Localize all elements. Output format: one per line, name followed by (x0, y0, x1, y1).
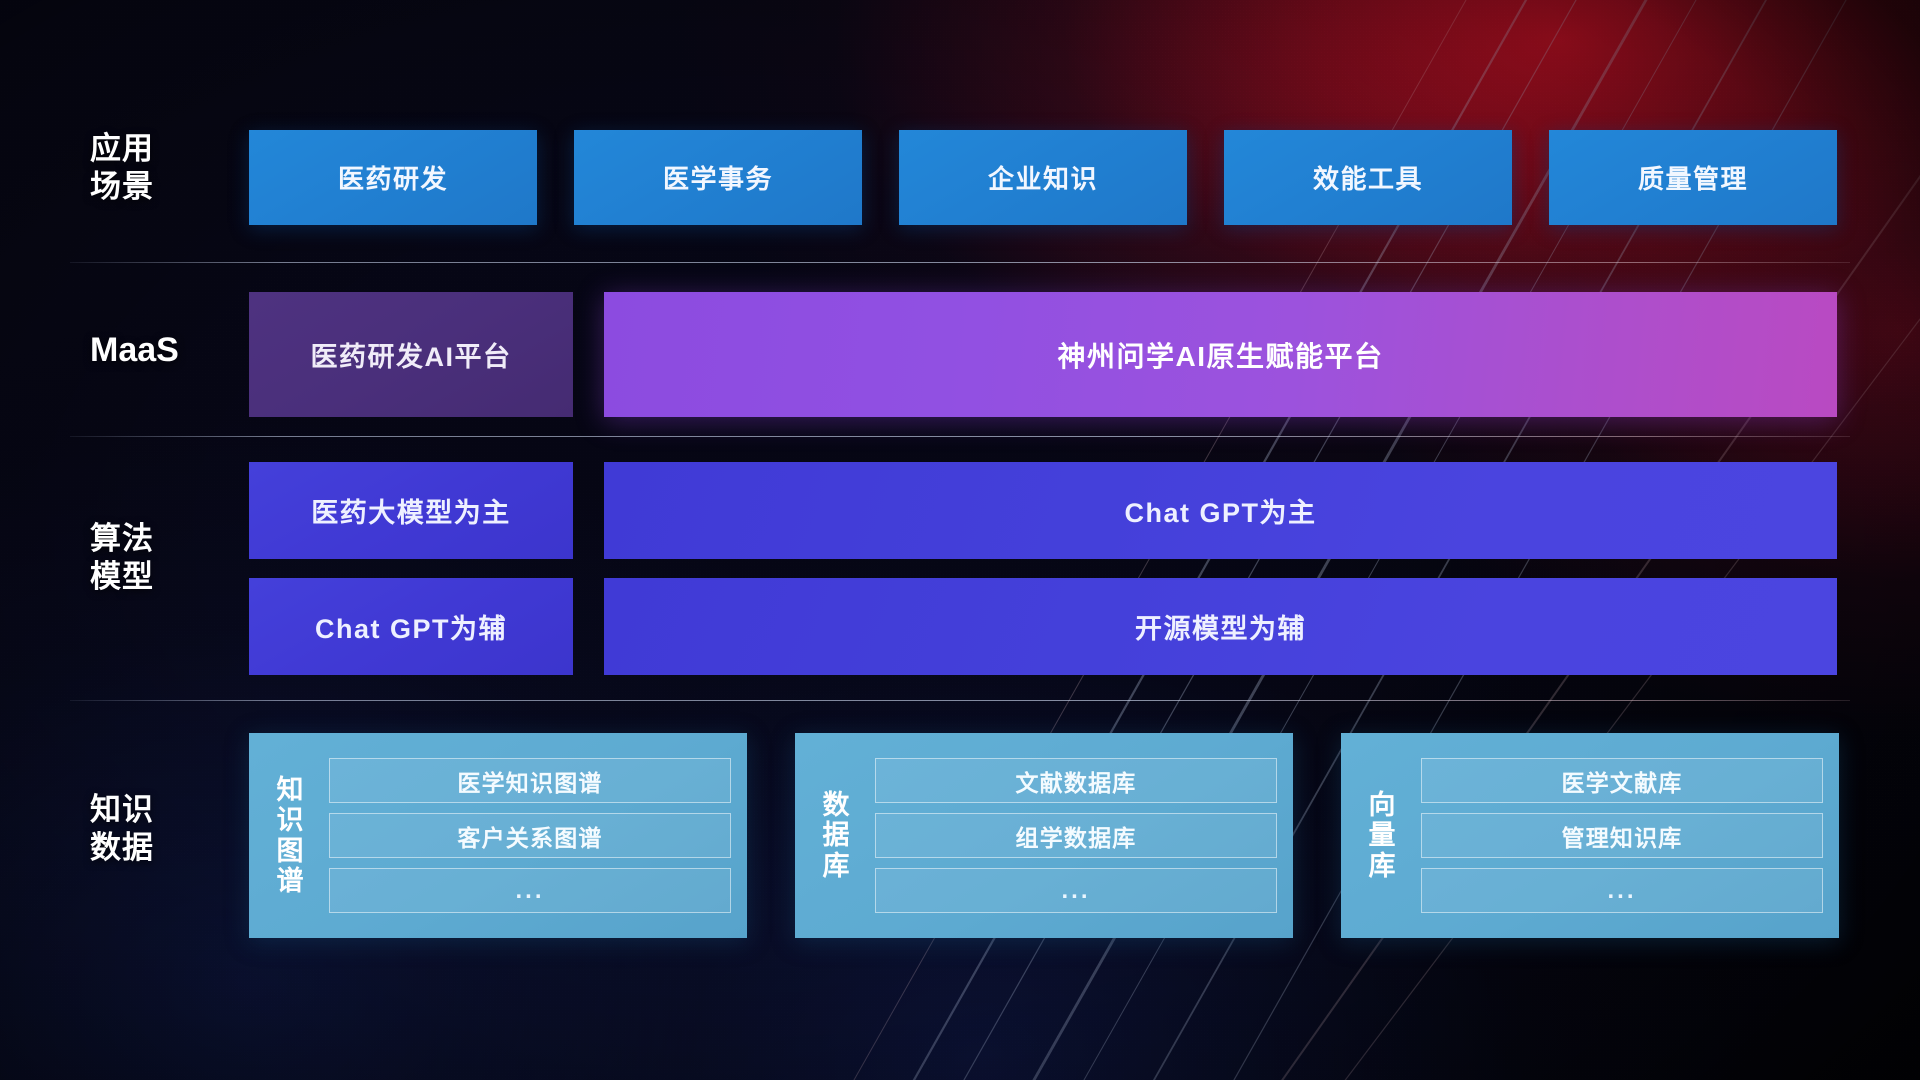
knowledge-card-title-knowledge-graph: 知识图谱 (263, 775, 317, 896)
maas-box-pharma-ai-platform[interactable]: 医药研发AI平台 (249, 292, 573, 417)
knowledge-card-title-text: 向量库 (1355, 790, 1409, 881)
knowledge-card-items-knowledge-graph: 医学知识图谱 客户关系图谱 ... (329, 747, 731, 924)
scenario-box-5[interactable]: 质量管理 (1549, 130, 1837, 225)
algo-box-secondary-right[interactable]: 开源模型为辅 (604, 578, 1837, 675)
knowledge-card-items-database: 文献数据库 组学数据库 ... (875, 747, 1277, 924)
knowledge-card-items-vector-store: 医学文献库 管理知识库 ... (1421, 747, 1823, 924)
knowledge-item[interactable]: 客户关系图谱 (329, 813, 731, 858)
row-label-line-1: 应用 (90, 130, 210, 168)
knowledge-item[interactable]: 管理知识库 (1421, 813, 1823, 858)
divider-1 (70, 262, 1850, 263)
row-label-line-2: 数据 (90, 829, 210, 867)
scenario-box-3[interactable]: 企业知识 (899, 130, 1187, 225)
scenario-box-2[interactable]: 医学事务 (574, 130, 862, 225)
knowledge-item-more[interactable]: ... (329, 868, 731, 913)
knowledge-card-title-database: 数据库 (809, 790, 863, 881)
knowledge-card-title-text: 知识图谱 (263, 775, 317, 896)
row-label-maas: MaaS (90, 330, 210, 371)
knowledge-item[interactable]: 组学数据库 (875, 813, 1277, 858)
row-label-algorithm-models: 算法 模型 (90, 520, 210, 596)
algo-box-secondary-left[interactable]: Chat GPT为辅 (249, 578, 573, 675)
knowledge-item-more[interactable]: ... (1421, 868, 1823, 913)
knowledge-card-vector-store[interactable]: 向量库 医学文献库 管理知识库 ... (1341, 733, 1839, 938)
row-label-application-scenarios: 应用 场景 (90, 130, 210, 206)
maas-box-shenzhou-wenxue-platform[interactable]: 神州问学AI原生赋能平台 (604, 292, 1837, 417)
knowledge-card-title-text: 数据库 (809, 790, 863, 881)
knowledge-item[interactable]: 医学文献库 (1421, 758, 1823, 803)
row-label-line-1: 算法 (90, 520, 210, 558)
scenario-box-4[interactable]: 效能工具 (1224, 130, 1512, 225)
row-label-line-1: 知识 (90, 791, 210, 829)
divider-2 (70, 436, 1850, 437)
knowledge-card-database[interactable]: 数据库 文献数据库 组学数据库 ... (795, 733, 1293, 938)
row-label-line-2: 场景 (90, 168, 210, 206)
knowledge-card-title-vector-store: 向量库 (1355, 790, 1409, 881)
row-label-line-2: 模型 (90, 558, 210, 596)
scenario-box-1[interactable]: 医药研发 (249, 130, 537, 225)
algo-box-primary-right[interactable]: Chat GPT为主 (604, 462, 1837, 559)
row-label-knowledge-data: 知识 数据 (90, 791, 210, 867)
knowledge-item[interactable]: 医学知识图谱 (329, 758, 731, 803)
knowledge-card-knowledge-graph[interactable]: 知识图谱 医学知识图谱 客户关系图谱 ... (249, 733, 747, 938)
algo-box-primary-left[interactable]: 医药大模型为主 (249, 462, 573, 559)
divider-3 (70, 700, 1850, 701)
knowledge-item[interactable]: 文献数据库 (875, 758, 1277, 803)
knowledge-item-more[interactable]: ... (875, 868, 1277, 913)
